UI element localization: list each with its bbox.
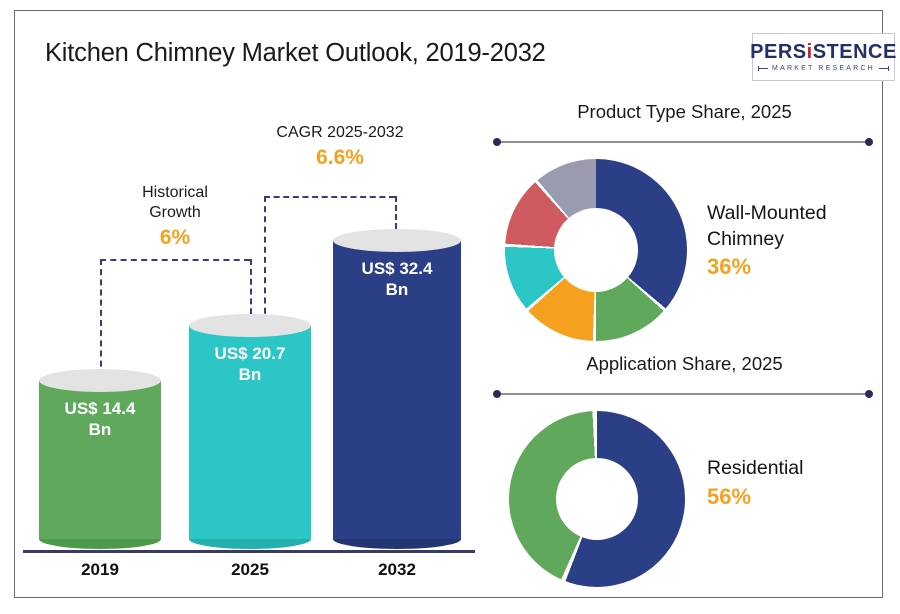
bar-2025-value-label: US$ 20.7Bn [189,344,311,385]
product-type-legend-name-line1: Wall-Mounted [707,201,882,227]
dash-line-cagr-bracket [264,196,395,198]
bar-2025-cap [189,314,311,337]
product-type-donut-chart [505,159,687,341]
product-type-legend: Wall-Mounted Chimney 36% [707,201,882,280]
dash-line-2019-vertical [100,259,102,387]
cagr-value: 6.6% [240,146,440,170]
application-donut-chart [509,411,685,587]
cagr-annotation: CAGR 2025-2032 6.6% [240,123,440,170]
historical-growth-label-line1: Historical [100,183,250,203]
bar-2032-cap [333,229,461,252]
bar-2025: US$ 20.7Bn [189,314,311,539]
share-panels: Product Type Share, 2025 Wall-Mounted Ch… [485,11,884,599]
bar-2032-value-label: US$ 32.4Bn [333,259,461,300]
x-label-2032: 2032 [333,560,461,580]
historical-growth-label-line2: Growth [100,203,250,223]
application-section-heading: Application Share, 2025 [485,353,884,375]
application-divider [495,393,871,395]
application-legend-percent: 56% [707,484,882,510]
chart-baseline-axis [23,550,475,553]
cagr-label: CAGR 2025-2032 [240,123,440,143]
product-type-donut-hole [554,208,638,292]
bar-2032: US$ 32.4Bn [333,229,461,539]
bar-2019-cap [39,369,161,392]
historical-growth-value: 6% [100,226,250,250]
application-legend-name: Residential [707,456,882,482]
product-type-legend-name-line2: Chimney [707,227,882,253]
market-size-bar-chart: Historical Growth 6% CAGR 2025-2032 6.6%… [15,11,485,599]
x-label-2025: 2025 [189,560,311,580]
bar-2019: US$ 14.4Bn [39,369,161,539]
product-type-section-heading: Product Type Share, 2025 [485,101,884,123]
application-donut-hole [556,458,638,540]
historical-growth-annotation: Historical Growth 6% [100,183,250,250]
product-type-legend-percent: 36% [707,254,882,280]
dash-line-historical-bracket [100,259,250,261]
application-legend: Residential 56% [707,456,882,510]
infographic-frame: Kitchen Chimney Market Outlook, 2019-203… [14,10,883,598]
x-label-2019: 2019 [39,560,161,580]
product-type-divider [495,141,871,143]
bar-2019-value-label: US$ 14.4Bn [39,399,161,440]
